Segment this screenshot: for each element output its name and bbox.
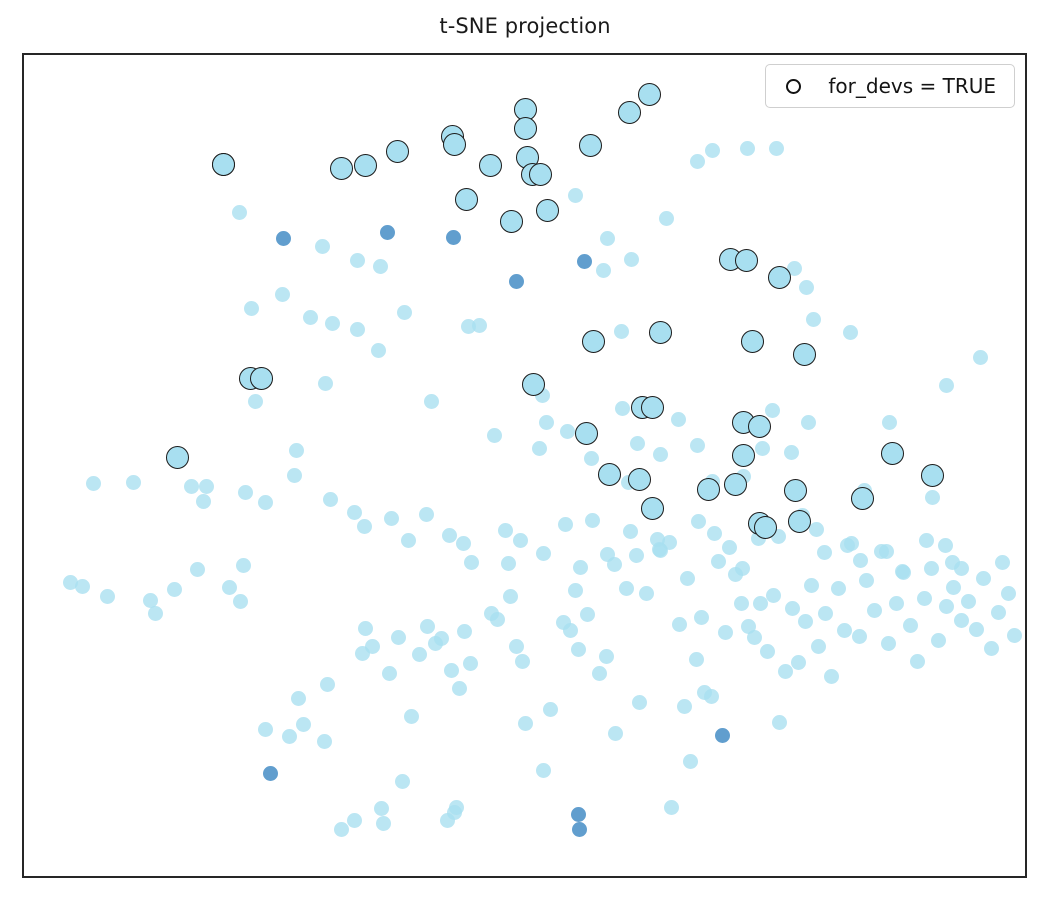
scatter-point [925, 490, 940, 505]
scatter-point-highlighted [579, 134, 602, 157]
scatter-point [424, 394, 439, 409]
scatter-point [903, 618, 918, 633]
scatter-point-highlighted [443, 133, 466, 156]
scatter-point [722, 540, 737, 555]
scatter-point [384, 511, 399, 526]
scatter-point [954, 613, 969, 628]
scatter-point [190, 562, 205, 577]
scatter-point-highlighted [921, 464, 944, 487]
scatter-point-highlighted [330, 157, 353, 180]
scatter-point [778, 664, 793, 679]
scatter-point [798, 614, 813, 629]
scatter-point [222, 580, 237, 595]
scatter-point [276, 231, 291, 246]
scatter-point [397, 305, 412, 320]
scatter-point [509, 274, 524, 289]
scatter-point [75, 579, 90, 594]
scatter-point [630, 436, 645, 451]
scatter-point [373, 259, 388, 274]
scatter-point [357, 519, 372, 534]
scatter-point [501, 556, 516, 571]
scatter-point [457, 624, 472, 639]
scatter-point [449, 800, 464, 815]
scatter-point [785, 601, 800, 616]
scatter-point [844, 536, 859, 551]
scatter-point [672, 617, 687, 632]
scatter-point [910, 654, 925, 669]
scatter-point [653, 447, 668, 462]
scatter-point [287, 468, 302, 483]
scatter-point [671, 412, 686, 427]
scatter-point [690, 438, 705, 453]
scatter-point [728, 567, 743, 582]
scatter-point [607, 557, 622, 572]
scatter-point [946, 580, 961, 595]
scatter-point [365, 639, 380, 654]
scatter-point [919, 533, 934, 548]
scatter-point [232, 205, 247, 220]
scatter-point-highlighted [784, 479, 807, 502]
scatter-point [325, 316, 340, 331]
scatter-point [446, 230, 461, 245]
scatter-point [659, 211, 674, 226]
scatter-point [401, 533, 416, 548]
scatter-point [596, 263, 611, 278]
scatter-point [867, 603, 882, 618]
scatter-point-highlighted [724, 473, 747, 496]
scatter-point [391, 630, 406, 645]
scatter-point-highlighted [851, 487, 874, 510]
scatter-point [924, 561, 939, 576]
scatter-point [184, 479, 199, 494]
scatter-point-highlighted [386, 140, 409, 163]
scatter-point [244, 301, 259, 316]
scatter-point [472, 318, 487, 333]
scatter-point [464, 555, 479, 570]
scatter-point [515, 654, 530, 669]
scatter-point [434, 631, 449, 646]
scatter-point [248, 394, 263, 409]
scatter-point [961, 594, 976, 609]
scatter-point-highlighted [697, 478, 720, 501]
chart-legend[interactable]: for_devs = TRUE [765, 64, 1015, 108]
scatter-point [568, 583, 583, 598]
scatter-point [584, 451, 599, 466]
scatter-point-highlighted [748, 415, 771, 438]
scatter-point [558, 517, 573, 532]
scatter-point [804, 578, 819, 593]
scatter-point-highlighted [793, 343, 816, 366]
scatter-point [419, 507, 434, 522]
scatter-point [573, 560, 588, 575]
scatter-point [1001, 586, 1016, 601]
scatter-point [86, 476, 101, 491]
scatter-point [258, 495, 273, 510]
scatter-point [995, 555, 1010, 570]
scatter-point [917, 591, 932, 606]
scatter-point [543, 702, 558, 717]
scatter-point-highlighted [628, 468, 651, 491]
scatter-point [753, 596, 768, 611]
scatter-point [623, 524, 638, 539]
scatter-point [536, 546, 551, 561]
scatter-point [571, 642, 586, 657]
scatter-point [487, 428, 502, 443]
scatter-point [317, 734, 332, 749]
scatter-point-highlighted [455, 188, 478, 211]
page-title: t-SNE projection [0, 14, 1050, 38]
scatter-points-layer [24, 55, 1025, 876]
scatter-point-highlighted [514, 117, 537, 140]
scatter-point-highlighted [649, 321, 672, 344]
scatter-point-highlighted [768, 266, 791, 289]
scatter-point [711, 554, 726, 569]
scatter-point [347, 505, 362, 520]
scatter-point [766, 588, 781, 603]
scatter-point [412, 647, 427, 662]
scatter-point [456, 536, 471, 551]
scatter-point [518, 716, 533, 731]
scatter-point [769, 141, 784, 156]
scatter-point [691, 514, 706, 529]
scatter-point-highlighted [354, 154, 377, 177]
scatter-point [859, 573, 874, 588]
scatter-point-highlighted [735, 249, 758, 272]
scatter-point [843, 325, 858, 340]
scatter-point [258, 722, 273, 737]
scatter-point [680, 571, 695, 586]
scatter-point [199, 479, 214, 494]
scatter-point [532, 441, 547, 456]
scatter-point [350, 322, 365, 337]
scatter-point [689, 652, 704, 667]
scatter-point [600, 231, 615, 246]
scatter-point-highlighted [788, 510, 811, 533]
scatter-point [694, 610, 709, 625]
scatter-point [560, 424, 575, 439]
scatter-point [420, 619, 435, 634]
scatter-point [100, 589, 115, 604]
scatter-point-highlighted [575, 422, 598, 445]
scatter-point [382, 666, 397, 681]
scatter-point [765, 403, 780, 418]
scatter-point-highlighted [500, 210, 523, 233]
scatter-point [571, 807, 586, 822]
scatter-point-highlighted [638, 83, 661, 106]
scatter-point [577, 254, 592, 269]
scatter-point-highlighted [212, 153, 235, 176]
scatter-point [380, 225, 395, 240]
scatter-point [653, 543, 668, 558]
scatter-point [705, 143, 720, 158]
scatter-point [683, 754, 698, 769]
scatter-point [734, 596, 749, 611]
scatter-point [498, 523, 513, 538]
scatter-point [303, 310, 318, 325]
scatter-point [233, 594, 248, 609]
scatter-point [347, 813, 362, 828]
scatter-point [371, 343, 386, 358]
scatter-point [320, 677, 335, 692]
scatter-point [580, 607, 595, 622]
scatter-point [167, 582, 182, 597]
scatter-point [954, 561, 969, 576]
scatter-point [984, 641, 999, 656]
scatter-point [1007, 628, 1022, 643]
scatter-point [282, 729, 297, 744]
scatter-point [874, 544, 889, 559]
scatter-point [126, 475, 141, 490]
scatter-point [881, 636, 896, 651]
scatter-point [624, 252, 639, 267]
scatter-point-highlighted [479, 154, 502, 177]
scatter-point [619, 581, 634, 596]
scatter-point [791, 655, 806, 670]
scatter-point [677, 699, 692, 714]
legend-label-for-devs-true: for_devs = TRUE [828, 74, 996, 98]
scatter-point [572, 822, 587, 837]
scatter-point [238, 485, 253, 500]
scatter-point-highlighted [732, 444, 755, 467]
scatter-point-highlighted [641, 396, 664, 419]
scatter-point [715, 728, 730, 743]
scatter-point [939, 599, 954, 614]
scatter-point [323, 492, 338, 507]
scatter-point [536, 763, 551, 778]
scatter-point-highlighted [618, 101, 641, 124]
scatter-point [503, 589, 518, 604]
scatter-point [513, 533, 528, 548]
scatter-point [376, 816, 391, 831]
scatter-point [592, 666, 607, 681]
scatter-point-highlighted [522, 373, 545, 396]
scatter-point [334, 822, 349, 837]
scatter-point [296, 717, 311, 732]
scatter-point [615, 401, 630, 416]
scatter-point [629, 548, 644, 563]
scatter-point [784, 445, 799, 460]
scatter-point [358, 621, 373, 636]
scatter-point [824, 669, 839, 684]
scatter-point [772, 715, 787, 730]
scatter-point [568, 188, 583, 203]
scatter-point [806, 312, 821, 327]
scatter-point [463, 656, 478, 671]
scatter-point-highlighted [641, 497, 664, 520]
scatter-point [938, 538, 953, 553]
scatter-point [931, 633, 946, 648]
scatter-point [263, 766, 278, 781]
scatter-point [837, 623, 852, 638]
scatter-point [608, 726, 623, 741]
scatter-point [509, 639, 524, 654]
scatter-point [690, 154, 705, 169]
scatter-point [614, 324, 629, 339]
scatter-point [704, 689, 719, 704]
scatter-point [291, 691, 306, 706]
scatter-point [196, 494, 211, 509]
plot-axes-frame: for_devs = TRUE [22, 53, 1027, 878]
scatter-point [632, 695, 647, 710]
scatter-point [811, 639, 826, 654]
scatter-point [976, 571, 991, 586]
scatter-point-highlighted [598, 463, 621, 486]
scatter-point-highlighted [741, 330, 764, 353]
scatter-point-highlighted [166, 446, 189, 469]
scatter-point [896, 565, 911, 580]
scatter-point [350, 253, 365, 268]
scatter-point [718, 625, 733, 640]
scatter-point [236, 558, 251, 573]
scatter-point-highlighted [754, 516, 777, 539]
scatter-point [818, 606, 833, 621]
scatter-point [801, 415, 816, 430]
scatter-point [664, 800, 679, 815]
scatter-point [442, 528, 457, 543]
scatter-point [289, 443, 304, 458]
scatter-point [831, 581, 846, 596]
scatter-point-highlighted [881, 442, 904, 465]
scatter-point [639, 586, 654, 601]
scatter-point [318, 376, 333, 391]
scatter-point [395, 774, 410, 789]
scatter-point [444, 663, 459, 678]
scatter-point [882, 415, 897, 430]
scatter-point [969, 622, 984, 637]
scatter-point-highlighted [582, 330, 605, 353]
scatter-point [374, 801, 389, 816]
scatter-point-highlighted [250, 367, 273, 390]
scatter-point [490, 612, 505, 627]
scatter-point [452, 681, 467, 696]
scatter-point [991, 605, 1006, 620]
scatter-point [799, 280, 814, 295]
scatter-point [585, 513, 600, 528]
tsne-scatter-figure: t-SNE projection for_devs = TRUE [0, 0, 1050, 900]
scatter-point [747, 630, 762, 645]
scatter-point-highlighted [529, 163, 552, 186]
scatter-point [853, 553, 868, 568]
scatter-point [315, 239, 330, 254]
scatter-point [707, 526, 722, 541]
legend-marker-open-circle-icon [782, 79, 804, 94]
scatter-point [852, 629, 867, 644]
scatter-point [809, 522, 824, 537]
scatter-point-highlighted [536, 199, 559, 222]
scatter-point [404, 709, 419, 724]
scatter-point [939, 378, 954, 393]
scatter-point [275, 287, 290, 302]
scatter-point [539, 415, 554, 430]
scatter-point [740, 141, 755, 156]
scatter-point [755, 441, 770, 456]
scatter-point [148, 606, 163, 621]
scatter-point [563, 623, 578, 638]
scatter-point [599, 649, 614, 664]
scatter-point [973, 350, 988, 365]
scatter-point [817, 545, 832, 560]
scatter-point [889, 596, 904, 611]
scatter-point [760, 644, 775, 659]
